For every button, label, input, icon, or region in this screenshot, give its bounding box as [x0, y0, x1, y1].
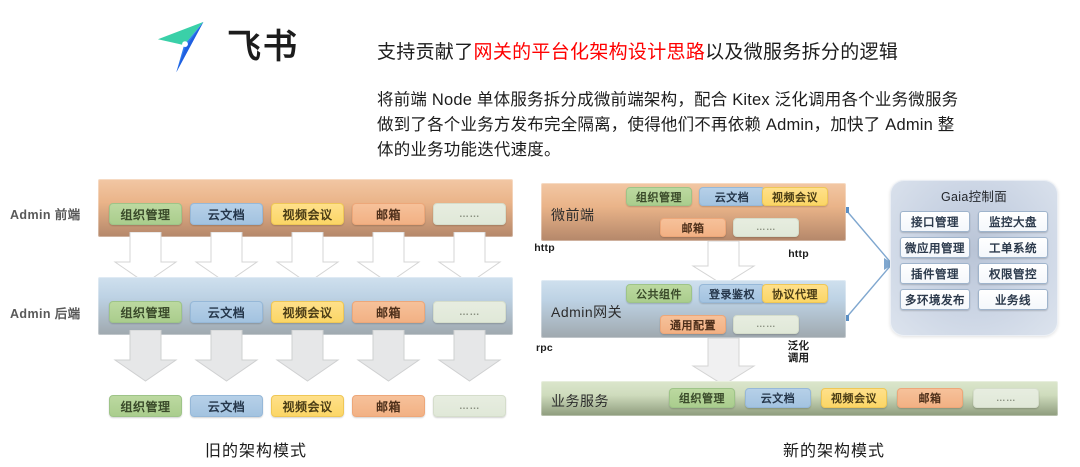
chip-gateway-4[interactable]: …… — [733, 315, 799, 334]
gaia-control-panel: Gaia控制面 接口管理 监控大盘 微应用管理 工单系统 插件管理 权限管控 多… — [890, 180, 1058, 336]
arrow-rpc-3: rpc — [351, 330, 426, 382]
body-paragraph: 将前端 Node 单体服务拆分成微前端架构，配合 Kitex 泛化调用各个业务微… — [377, 88, 1007, 163]
chip-old-frontend-2[interactable]: 视频会议 — [271, 203, 344, 225]
gaia-item-7[interactable]: 业务线 — [978, 289, 1048, 310]
chip-micro-frontend-2[interactable]: 视频会议 — [762, 187, 828, 206]
chip-old-service-1[interactable]: 云文档 — [190, 395, 263, 417]
headline-suffix: 以及微服务拆分的逻辑 — [705, 42, 898, 63]
gaia-item-1[interactable]: 监控大盘 — [978, 211, 1048, 232]
caption-old-architecture: 旧的架构模式 — [205, 437, 307, 461]
chip-gateway-3[interactable]: 通用配置 — [660, 315, 726, 334]
body-line-3: 体的业务功能迭代速度。 — [377, 138, 1007, 163]
chip-business-2[interactable]: 视频会议 — [821, 388, 887, 408]
gaia-item-3[interactable]: 工单系统 — [978, 237, 1048, 258]
chip-old-frontend-0[interactable]: 组织管理 — [109, 203, 182, 225]
gaia-panel-title: Gaia控制面 — [890, 186, 1058, 205]
admin-gateway-title: Admin网关 — [551, 302, 622, 322]
body-line-2: 做到了各个业务方发布完全隔离，使得他们不再依赖 Admin，加快了 Admin … — [377, 113, 1007, 138]
headline-highlight: 网关的平台化架构设计思路 — [474, 42, 706, 63]
chip-old-frontend-1[interactable]: 云文档 — [190, 203, 263, 225]
chip-gateway-1[interactable]: 登录鉴权 — [699, 284, 765, 303]
paper-plane-logo-icon — [155, 16, 217, 78]
gaia-item-4[interactable]: 插件管理 — [900, 263, 970, 284]
gaia-item-5[interactable]: 权限管控 — [978, 263, 1048, 284]
arrow-rpc-4-label: rpc — [507, 343, 582, 355]
row-label-admin-backend: Admin 后端 — [10, 303, 81, 322]
arrow-generic-call-label-1: 泛化 — [761, 341, 836, 353]
chip-micro-frontend-3[interactable]: 邮箱 — [660, 218, 726, 237]
chip-gateway-2[interactable]: 协议代理 — [762, 284, 828, 303]
arrow-rpc-4: rpc — [432, 330, 507, 382]
chip-business-3[interactable]: 邮箱 — [897, 388, 963, 408]
arrow-generic-call-label-2: 调用 — [761, 353, 836, 365]
chip-old-service-2[interactable]: 视频会议 — [271, 395, 344, 417]
chip-old-backend-3[interactable]: 邮箱 — [352, 301, 425, 323]
brand-logo-block: 飞书 — [155, 12, 355, 82]
chip-old-service-0[interactable]: 组织管理 — [109, 395, 182, 417]
chip-micro-frontend-0[interactable]: 组织管理 — [626, 187, 692, 206]
brand-name: 飞书 — [227, 30, 299, 64]
business-services-title: 业务服务 — [551, 391, 609, 411]
gaia-item-2[interactable]: 微应用管理 — [900, 237, 970, 258]
chip-old-service-3[interactable]: 邮箱 — [352, 395, 425, 417]
headline: 支持贡献了网关的平台化架构设计思路以及微服务拆分的逻辑 — [377, 39, 898, 67]
arrow-rpc-1: rpc — [189, 330, 264, 382]
micro-frontend-title: 微前端 — [551, 205, 595, 225]
chip-old-backend-0[interactable]: 组织管理 — [109, 301, 182, 323]
chip-old-service-4[interactable]: …… — [433, 395, 506, 417]
gaia-item-0[interactable]: 接口管理 — [900, 211, 970, 232]
gaia-items-grid: 接口管理 监控大盘 微应用管理 工单系统 插件管理 权限管控 多环境发布 业务线 — [890, 211, 1058, 310]
arrow-new-http-label: http — [761, 249, 836, 261]
arrow-rpc-0: rpc — [108, 330, 183, 382]
chip-gateway-0[interactable]: 公共组件 — [626, 284, 692, 303]
arrow-rpc-2: rpc — [270, 330, 345, 382]
chip-old-frontend-4[interactable]: …… — [433, 203, 506, 225]
arrow-generic-call: 泛化 调用 — [686, 338, 761, 386]
chip-micro-frontend-1[interactable]: 云文档 — [699, 187, 765, 206]
chip-old-backend-2[interactable]: 视频会议 — [271, 301, 344, 323]
chip-business-0[interactable]: 组织管理 — [669, 388, 735, 408]
gaia-item-6[interactable]: 多环境发布 — [900, 289, 970, 310]
headline-prefix: 支持贡献了 — [377, 42, 474, 63]
chip-business-1[interactable]: 云文档 — [745, 388, 811, 408]
chip-business-4[interactable]: …… — [973, 388, 1039, 408]
chip-old-backend-1[interactable]: 云文档 — [190, 301, 263, 323]
body-line-1: 将前端 Node 单体服务拆分成微前端架构，配合 Kitex 泛化调用各个业务微… — [377, 88, 1007, 113]
chip-micro-frontend-4[interactable]: …… — [733, 218, 799, 237]
chip-old-backend-4[interactable]: …… — [433, 301, 506, 323]
row-label-admin-frontend: Admin 前端 — [10, 204, 81, 223]
chip-old-frontend-3[interactable]: 邮箱 — [352, 203, 425, 225]
arrow-http-4-label: http — [507, 243, 582, 255]
caption-new-architecture: 新的架构模式 — [783, 437, 885, 461]
